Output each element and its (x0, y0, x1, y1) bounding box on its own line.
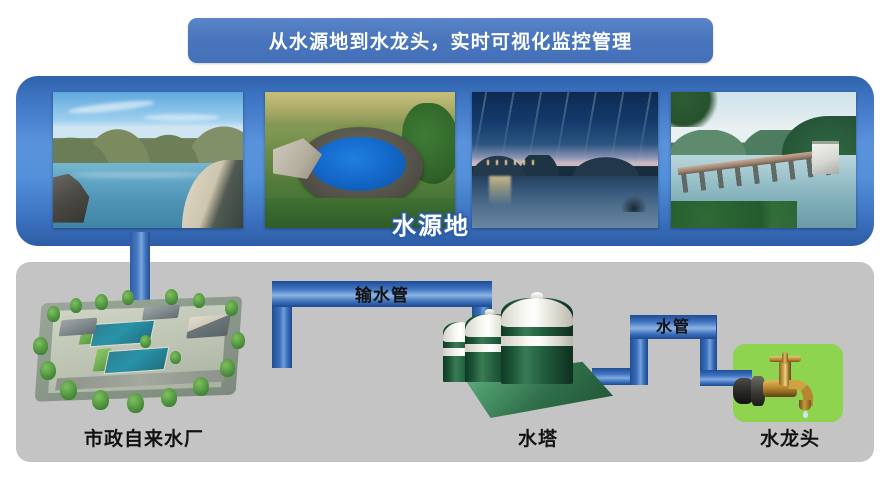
tank-dome (501, 298, 573, 327)
water-tower-illustration (443, 296, 613, 418)
reservoir-bridge-intake-photo (671, 92, 856, 228)
photo-branch (671, 92, 734, 127)
transmission-pipe-label: 输水管 (272, 280, 492, 306)
faucet-spout (799, 400, 811, 410)
plant-tree (165, 289, 178, 305)
plant-building (59, 318, 98, 337)
tower-caption: 水塔 (518, 424, 558, 451)
plant-tree (161, 388, 177, 407)
faucet-caption: 水龙头 (760, 424, 820, 451)
faucet-handle-cross (782, 352, 788, 364)
plant-tree (122, 290, 134, 305)
night-lake-startrails-photo (472, 92, 658, 228)
title-banner: 从水源地到水龙头，实时可视化监控管理 (188, 18, 713, 63)
plant-tree (95, 294, 108, 310)
photo-cloud (144, 114, 220, 121)
plant-tree (193, 293, 205, 308)
plant-tree (47, 306, 60, 322)
plant-tree (220, 359, 235, 377)
plant-tree (60, 380, 77, 400)
photo-foreground-foliage (671, 201, 797, 228)
plant-tree (127, 393, 144, 413)
photo-shore-lights (487, 160, 535, 165)
photo-spring-water (311, 137, 406, 191)
water-source-label: 水源地 (392, 206, 470, 241)
plant-caption: 市政自来水厂 (84, 424, 204, 451)
storage-tank (501, 298, 573, 384)
plant-tree (231, 332, 245, 349)
plant-tree (40, 361, 56, 380)
diagram-canvas: 从水源地到水龙头，实时可视化监控管理 (0, 0, 890, 477)
plant-tree (140, 335, 151, 348)
photo-intake-tower (812, 141, 840, 174)
plant-tree (70, 298, 82, 313)
plant-tree (33, 337, 48, 355)
photo-water-highlight (72, 172, 205, 179)
plant-office-building (186, 315, 231, 339)
photo-light-reflection (489, 176, 511, 206)
plant-tree (170, 351, 181, 364)
water-plant-illustration (24, 282, 252, 414)
distribution-pipe-label: 水管 (630, 313, 716, 337)
title-text: 从水源地到水龙头，实时可视化监控管理 (269, 27, 633, 54)
plant-building (141, 304, 180, 320)
plant-tree (92, 390, 109, 410)
plant-tree (193, 377, 209, 396)
plant-tree (225, 300, 238, 316)
reservoir-dam-photo (53, 92, 243, 228)
photo-driftwood (621, 195, 647, 211)
faucet-icon (745, 352, 837, 418)
tank-band (501, 336, 573, 346)
water-droplet-icon (803, 411, 808, 418)
